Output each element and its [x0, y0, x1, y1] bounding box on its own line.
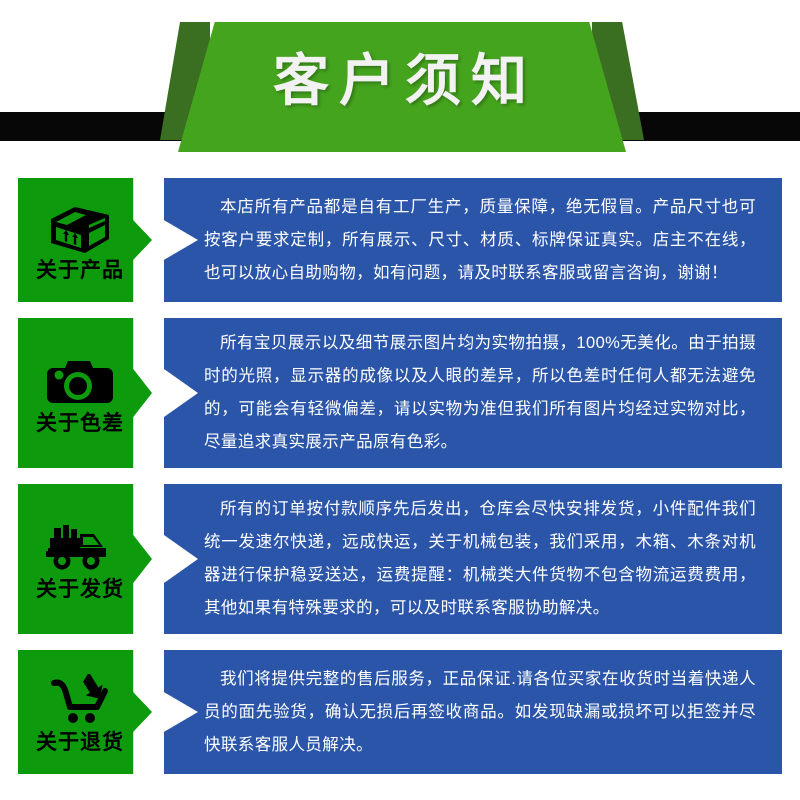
forklift-truck-icon [43, 519, 117, 577]
ribbon-main [178, 22, 626, 152]
section-tag-product[interactable]: 关于产品 [18, 178, 152, 302]
section-tag-label: 关于色差 [36, 413, 124, 434]
section-tag-label: 关于产品 [36, 260, 124, 281]
notice-row: 关于产品 本店所有产品都是自有工厂生产，质量保障，绝无假冒。产品尺寸也可按客户要… [18, 178, 782, 302]
notice-row: 关于色差 所有宝贝展示以及细节展示图片均为实物拍摄，100%无美化。由于拍摄时的… [18, 318, 782, 468]
section-tag-label: 关于发货 [36, 579, 124, 600]
section-panel-shipping: 所有的订单按付款顺序先后发出，仓库会尽快安排发货，小件配件我们统一发速尔快递，远… [164, 484, 782, 634]
section-panel-color: 所有宝贝展示以及细节展示图片均为实物拍摄，100%无美化。由于拍摄时的光照，显示… [164, 318, 782, 468]
section-tag-color[interactable]: 关于色差 [18, 318, 152, 468]
package-box-icon [43, 200, 117, 258]
section-text: 我们将提供完整的售后服务，正品保证.请各位买家在收货时当着快递人员的面先验货，确… [204, 663, 756, 762]
section-text: 所有的订单按付款顺序先后发出，仓库会尽快安排发货，小件配件我们统一发速尔快递，远… [204, 493, 756, 625]
return-cart-icon [43, 672, 117, 730]
section-panel-product: 本店所有产品都是自有工厂生产，质量保障，绝无假冒。产品尺寸也可按客户要求定制，所… [164, 178, 782, 302]
section-text: 所有宝贝展示以及细节展示图片均为实物拍摄，100%无美化。由于拍摄时的光照，显示… [204, 327, 756, 459]
section-tag-return[interactable]: 关于退货 [18, 650, 152, 774]
section-panel-return: 我们将提供完整的售后服务，正品保证.请各位买家在收货时当着快递人员的面先验货，确… [164, 650, 782, 774]
section-tag-shipping[interactable]: 关于发货 [18, 484, 152, 634]
notice-row: 关于退货 我们将提供完整的售后服务，正品保证.请各位买家在收货时当着快递人员的面… [18, 650, 782, 774]
section-tag-label: 关于退货 [36, 732, 124, 753]
camera-icon [43, 353, 117, 411]
notice-sections: 关于产品 本店所有产品都是自有工厂生产，质量保障，绝无假冒。产品尺寸也可按客户要… [0, 178, 800, 774]
section-text: 本店所有产品都是自有工厂生产，质量保障，绝无假冒。产品尺寸也可按客户要求定制，所… [204, 191, 756, 290]
header-banner: 客户须知 [0, 0, 800, 152]
notice-row: 关于发货 所有的订单按付款顺序先后发出，仓库会尽快安排发货，小件配件我们统一发速… [18, 484, 782, 634]
